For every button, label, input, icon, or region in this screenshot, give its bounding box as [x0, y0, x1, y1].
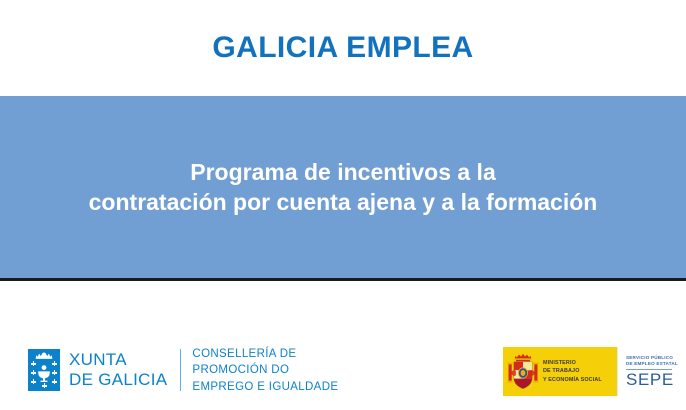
ministerio-line-1: MINISTERIO [543, 359, 602, 367]
ministry-sepe-logo-group: MINISTERIO DE TRABAJO Y ECONOMÍA SOCIAL … [503, 347, 686, 396]
ministerio-line-3: Y ECONOMÍA SOCIAL [543, 376, 602, 384]
xunta-wordmark-line-2: DE GALICIA [69, 370, 167, 391]
cross-icon-6 [52, 379, 57, 384]
sepe-acronym: SEPE [626, 371, 674, 388]
spain-escutcheon-svg [506, 352, 540, 392]
program-banner: Programa de incentivos a la contratación… [0, 96, 686, 281]
crown-icon [35, 352, 53, 359]
cross-icon-2 [52, 361, 57, 366]
xunta-wordmark: XUNTA DE GALICIA [69, 350, 167, 391]
sepe-subtitle: SERVICIO PÚBLICO DE EMPLEO ESTATAL [626, 355, 678, 368]
conselleria-line-1: CONSELLERÍA DE [192, 346, 338, 362]
xunta-de-galicia-logo: XUNTA DE GALICIA CONSELLERÍA DE PROMOCIÓ… [28, 346, 338, 395]
ministerio-de-trabajo-logo: MINISTERIO DE TRABAJO Y ECONOMÍA SOCIAL [503, 347, 617, 396]
ministerio-line-2: DE TRABAJO [543, 367, 602, 375]
chalice-icon [36, 365, 52, 385]
banner-text: Programa de incentivos a la contratación… [79, 157, 608, 218]
conselleria-line-3: EMPREGO E IGUALDADE [192, 379, 338, 395]
footer-logos: XUNTA DE GALICIA CONSELLERÍA DE PROMOCIÓ… [0, 284, 686, 410]
logo-divider [180, 349, 181, 391]
conselleria-line-2: PROMOCIÓN DO [192, 362, 338, 378]
galicia-coat-of-arms-icon [28, 349, 60, 391]
page-title: GALICIA EMPLEA [212, 33, 473, 63]
conselleria-text: CONSELLERÍA DE PROMOCIÓN DO EMPREGO E IG… [192, 346, 338, 395]
spain-coat-of-arms-icon [506, 352, 540, 392]
header-bar: GALICIA EMPLEA [0, 0, 686, 96]
ministerio-text: MINISTERIO DE TRABAJO Y ECONOMÍA SOCIAL [543, 359, 602, 383]
sepe-subtitle-line-1: SERVICIO PÚBLICO [626, 355, 678, 362]
sepe-subtitle-line-2: DE EMPLEO ESTATAL [626, 361, 678, 368]
cross-icon-4 [52, 370, 57, 375]
banner-line-2: contratación por cuenta ajena y a la for… [89, 187, 598, 217]
poster-root: GALICIA EMPLEA Programa de incentivos a … [0, 0, 686, 410]
sepe-logo: SERVICIO PÚBLICO DE EMPLEO ESTATAL SEPE [617, 347, 686, 396]
xunta-wordmark-line-1: XUNTA [69, 350, 167, 371]
banner-line-1: Programa de incentivos a la [89, 157, 598, 187]
